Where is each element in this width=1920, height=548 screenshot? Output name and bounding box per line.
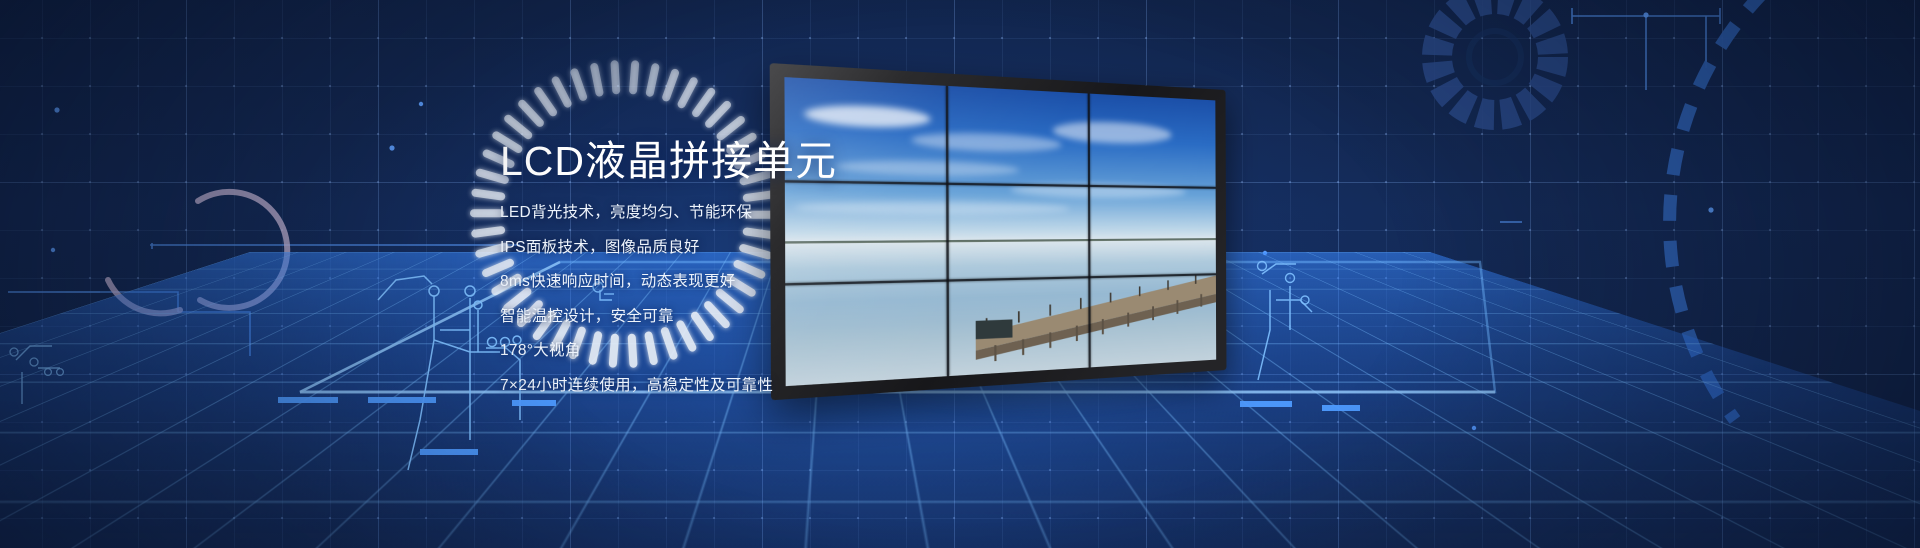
feature-item: 8ms快速响应时间，动态表现更好 <box>500 274 1140 290</box>
banner-copy: LCD液晶拼接单元 LED背光技术，亮度均匀、节能环保 IPS面板技术，图像品质… <box>500 140 1140 393</box>
feature-list: LED背光技术，亮度均匀、节能环保 IPS面板技术，图像品质良好 8ms快速响应… <box>500 205 1140 393</box>
feature-item: IPS面板技术，图像品质良好 <box>500 240 1140 256</box>
feature-item: 7×24小时连续使用，高稳定性及可靠性 <box>500 378 1140 394</box>
feature-item: 智能温控设计，安全可靠 <box>500 309 1140 325</box>
banner-root: LCD液晶拼接单元 LED背光技术，亮度均匀、节能环保 IPS面板技术，图像品质… <box>0 0 1920 548</box>
feature-item: LED背光技术，亮度均匀、节能环保 <box>500 205 1140 221</box>
page-title: LCD液晶拼接单元 <box>500 140 1140 183</box>
feature-item: 178°大视角 <box>500 343 1140 359</box>
